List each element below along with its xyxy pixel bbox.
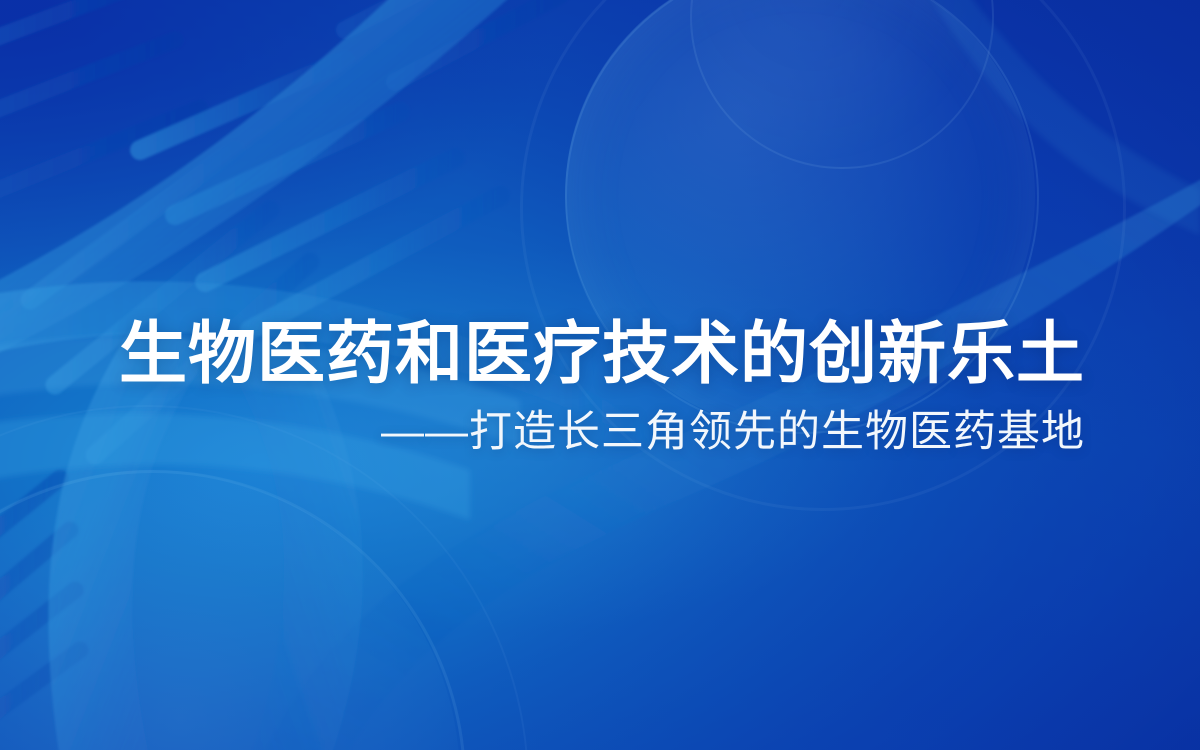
- banner-headline: 生物医药和医疗技术的创新乐土: [0, 318, 1085, 391]
- banner-slide: 生物医药和医疗技术的创新乐土 ——打造长三角领先的生物医药基地: [0, 0, 1200, 750]
- banner-subheadline: ——打造长三角领先的生物医药基地: [0, 409, 1085, 456]
- banner-text-block: 生物医药和医疗技术的创新乐土 ——打造长三角领先的生物医药基地: [0, 318, 1085, 457]
